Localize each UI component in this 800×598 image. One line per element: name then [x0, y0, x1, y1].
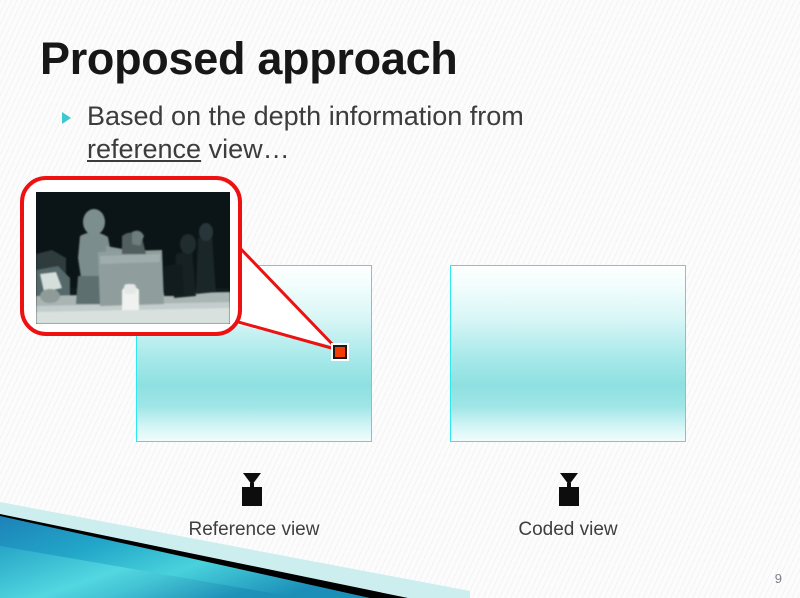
bullet-text: Based on the depth information from refe… — [87, 100, 627, 166]
coded-view-caption: Coded view — [450, 519, 686, 541]
depth-map-callout[interactable] — [20, 176, 242, 336]
decor-band-pale — [0, 502, 470, 598]
slide-title: Proposed approach — [40, 33, 457, 85]
slide-canvas: Proposed approach Based on the depth inf… — [0, 0, 800, 598]
reference-view-caption: Reference view — [136, 519, 372, 541]
camera-icon — [237, 472, 267, 508]
bullet-text-underlined: reference — [87, 134, 201, 164]
triangle-bullet-icon — [62, 112, 71, 124]
decor-band-teal-light — [0, 546, 300, 598]
bullet-text-part1: Based on the depth information from — [87, 101, 524, 131]
reference-pixel-marker[interactable] — [331, 343, 349, 361]
page-number: 9 — [775, 571, 782, 586]
camera-icon — [554, 472, 584, 508]
reference-pixel-marker-fill — [333, 345, 347, 359]
depth-map-image — [36, 192, 230, 324]
coded-view-box[interactable] — [450, 265, 686, 442]
bullet-text-part2: view… — [201, 134, 290, 164]
